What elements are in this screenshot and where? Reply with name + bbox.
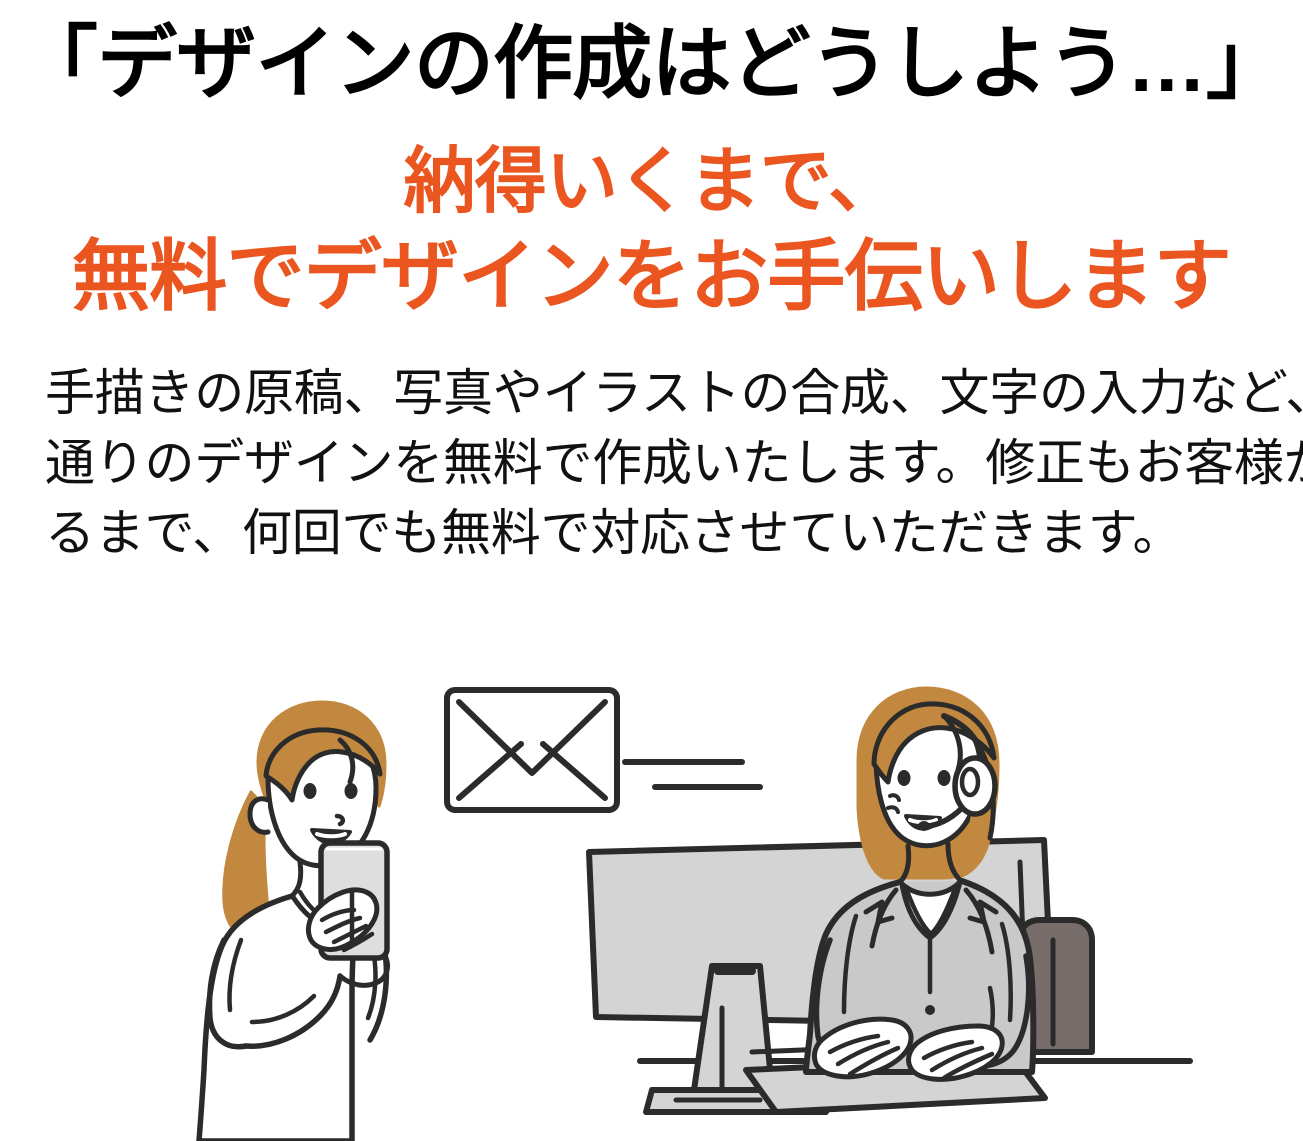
page-headline: 「デザインの作成はどうしよう…」 <box>0 16 1303 112</box>
envelope-icon <box>447 690 617 810</box>
body-line-3: るまで、何回でも無料で対応させていただきます。 <box>45 498 1285 568</box>
illustration-canvas <box>0 640 1303 1141</box>
subheadline-line-2: 無料でデザインをお手伝いします <box>0 228 1303 324</box>
promo-page: 「デザインの作成はどうしよう…」 納得いくまで、 無料でデザインをお手伝いします… <box>0 0 1303 1141</box>
woman-with-smartphone <box>199 702 388 1141</box>
body-line-2: 通りのデザインを無料で作成いたします。修正もお客様が納得す <box>45 428 1285 498</box>
motion-lines <box>625 762 760 787</box>
page-subheadline: 納得いくまで、 無料でデザインをお手伝いします <box>0 136 1303 324</box>
body-line-1: 手描きの原稿、写真やイラストの合成、文字の入力など、ご希望 <box>45 358 1285 428</box>
promo-illustration <box>0 640 1303 1141</box>
body-paragraph: 手描きの原稿、写真やイラストの合成、文字の入力など、ご希望 通りのデザインを無料… <box>45 358 1285 568</box>
subheadline-line-1: 納得いくまで、 <box>0 136 1303 228</box>
